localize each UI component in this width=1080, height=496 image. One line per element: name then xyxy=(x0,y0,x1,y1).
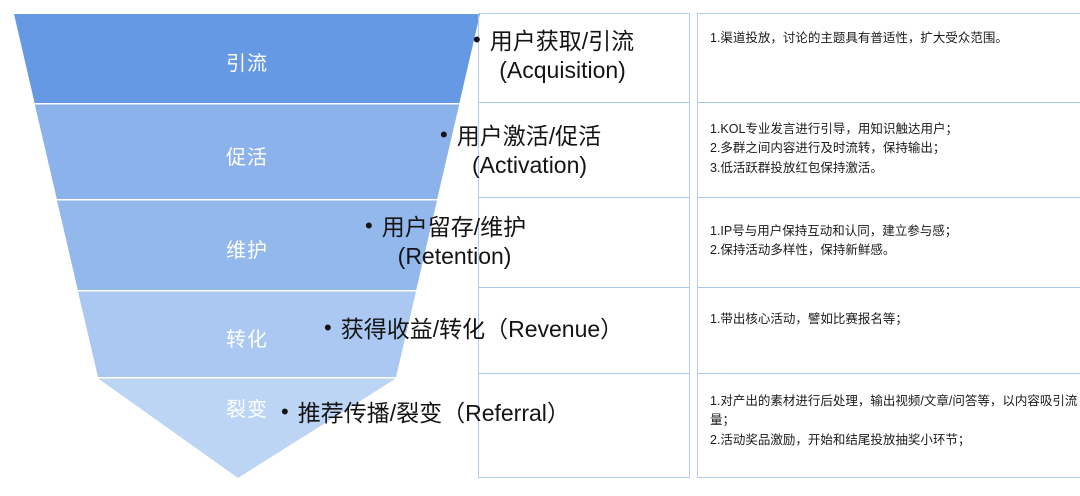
tactic-line: 3.低活跃群投放红包保持激活。 xyxy=(710,159,1080,178)
stage-title-en: (Activation) xyxy=(472,152,587,178)
tactic-line: 2.活动奖品激励，开始和结尾投放抽奖小环节； xyxy=(710,431,1080,450)
stage-title-5: •推荐传播/裂变（Referral） xyxy=(281,399,570,428)
stage-title-1: •用户获取/引流 (Acquisition) xyxy=(473,27,634,86)
tactics-1: 1.渠道投放，讨论的主题具有普适性，扩大受众范围。 xyxy=(710,29,1080,48)
slide-canvas: 引流 促活 维护 转化 裂变 •用户获取/引流 (Acquisition) •用… xyxy=(0,0,1080,496)
tactic-line: 2.多群之间内容进行及时流转，保持输出； xyxy=(710,139,1080,158)
stage-title-cn: 用户留存/维护 xyxy=(382,214,526,240)
tactic-line: 1.对产出的素材进行后处理，输出视频/文章/问答等，以内容吸引流量； xyxy=(710,392,1080,431)
stage-title-en: (Retention) xyxy=(398,243,512,269)
tactics-5: 1.对产出的素材进行后处理，输出视频/文章/问答等，以内容吸引流量； 2.活动奖… xyxy=(710,392,1080,450)
tactic-line: 1.带出核心活动，譬如比赛报名等； xyxy=(710,310,1080,329)
stage-title-en: (Acquisition) xyxy=(499,57,626,83)
tactics-3: 1.IP号与用户保持互动和认同，建立参与感； 2.保持活动多样性，保持新鲜感。 xyxy=(710,222,1080,261)
tactic-line: 2.保持活动多样性，保持新鲜感。 xyxy=(710,241,1080,260)
table-row: •用户激活/促活 (Activation) xyxy=(479,103,689,198)
table-row: 1.对产出的素材进行后处理，输出视频/文章/问答等，以内容吸引流量； 2.活动奖… xyxy=(698,374,1080,477)
bullet-icon: • xyxy=(440,124,448,146)
tactic-line: 1.IP号与用户保持互动和认同，建立参与感； xyxy=(710,222,1080,241)
stage-definitions-table: •用户获取/引流 (Acquisition) •用户激活/促活 (Activat… xyxy=(478,13,690,478)
stage-title-cn: 用户激活/促活 xyxy=(457,123,601,149)
table-row: •获得收益/转化（Revenue） xyxy=(479,288,689,374)
stage-title-2: •用户激活/促活 (Activation) xyxy=(440,122,601,181)
stage-title-en: （Referral） xyxy=(442,400,570,426)
stage-title-cn: 推荐传播/裂变 xyxy=(298,400,442,426)
stage-tactics-table: 1.渠道投放，讨论的主题具有普适性，扩大受众范围。 1.KOL专业发言进行引导，… xyxy=(697,13,1080,478)
stage-title-4: •获得收益/转化（Revenue） xyxy=(324,315,623,344)
stage-title-en: （Revenue） xyxy=(485,316,623,342)
bullet-icon: • xyxy=(281,401,289,423)
bullet-icon: • xyxy=(324,317,332,339)
tactic-line: 1.KOL专业发言进行引导，用知识触达用户； xyxy=(710,120,1080,139)
stage-title-cn: 获得收益/转化 xyxy=(341,316,485,342)
funnel-label-1: 引流 xyxy=(0,47,494,76)
table-row: •用户留存/维护 (Retention) xyxy=(479,198,689,288)
tactic-line: 1.渠道投放，讨论的主题具有普适性，扩大受众范围。 xyxy=(710,29,1080,48)
table-row: •用户获取/引流 (Acquisition) xyxy=(479,14,689,103)
tactics-2: 1.KOL专业发言进行引导，用知识触达用户； 2.多群之间内容进行及时流转，保持… xyxy=(710,120,1080,178)
tactics-4: 1.带出核心活动，譬如比赛报名等； xyxy=(710,310,1080,329)
table-row: 1.KOL专业发言进行引导，用知识触达用户； 2.多群之间内容进行及时流转，保持… xyxy=(698,103,1080,198)
table-row: 1.渠道投放，讨论的主题具有普适性，扩大受众范围。 xyxy=(698,14,1080,103)
stage-title-cn: 用户获取/引流 xyxy=(490,28,634,54)
bullet-icon: • xyxy=(365,215,373,237)
stage-title-3: •用户留存/维护 (Retention) xyxy=(365,213,526,272)
table-row: 1.IP号与用户保持互动和认同，建立参与感； 2.保持活动多样性，保持新鲜感。 xyxy=(698,198,1080,288)
table-row: •推荐传播/裂变（Referral） xyxy=(479,374,689,477)
funnel-label-2: 促活 xyxy=(0,141,494,170)
table-row: 1.带出核心活动，譬如比赛报名等； xyxy=(698,288,1080,374)
bullet-icon: • xyxy=(473,29,481,51)
